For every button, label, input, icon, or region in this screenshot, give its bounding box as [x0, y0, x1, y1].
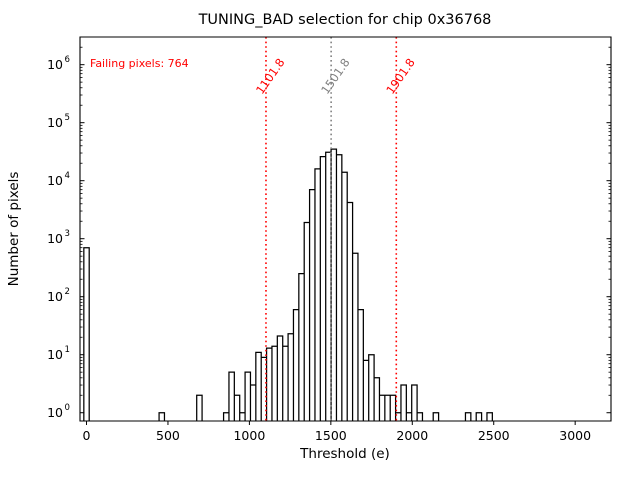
failing-pixels-annotation: Failing pixels: 764 [90, 57, 189, 70]
y-tick-exponent: 0 [65, 403, 70, 413]
x-tick-label: 2000 [396, 428, 428, 443]
y-tick-label: 10 [47, 115, 63, 130]
x-tick-label: 3000 [559, 428, 591, 443]
y-tick-exponent: 5 [65, 113, 70, 123]
histogram-plot: TUNING_BAD selection for chip 0x36768 11… [0, 0, 640, 480]
plot-background [80, 37, 611, 421]
x-tick-label: 500 [156, 428, 180, 443]
x-axis-label: Threshold (e) [299, 446, 390, 462]
y-tick-exponent: 1 [65, 345, 70, 355]
y-tick-label: 10 [47, 173, 63, 188]
y-tick-exponent: 4 [65, 171, 70, 181]
y-tick-label: 10 [47, 231, 63, 246]
matplotlib-figure: TUNING_BAD selection for chip 0x36768 11… [0, 0, 640, 480]
page-title: TUNING_BAD selection for chip 0x36768 [198, 12, 492, 28]
x-tick-label: 1000 [233, 428, 265, 443]
y-tick-label: 10 [47, 405, 63, 420]
axes-area: 1101.81501.81901.8 050010001500200025003… [47, 37, 611, 443]
x-tick-label: 0 [83, 428, 91, 443]
y-tick-label: 10 [47, 57, 63, 72]
y-axis-label: Number of pixels [6, 172, 22, 287]
x-tick-label: 1500 [315, 428, 347, 443]
y-tick-label: 10 [47, 289, 63, 304]
y-tick-exponent: 3 [65, 229, 70, 239]
y-tick-exponent: 2 [65, 287, 70, 297]
y-tick-exponent: 6 [65, 55, 70, 65]
y-tick-label: 10 [47, 347, 63, 362]
x-tick-label: 2500 [478, 428, 510, 443]
